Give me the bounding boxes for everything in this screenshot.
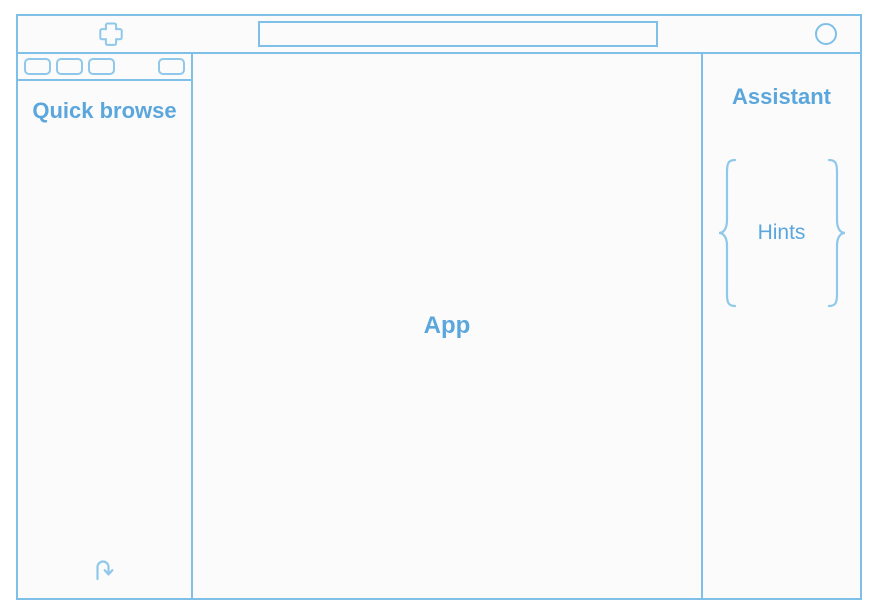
top-bar [18, 16, 860, 54]
sidebar-footer [18, 554, 191, 598]
main-body: Quick browse App Assistant [18, 54, 860, 598]
app-canvas[interactable]: App [193, 54, 703, 598]
tab-chip-1[interactable] [24, 58, 51, 75]
left-curly-brace-icon [717, 158, 739, 308]
assistant-panel: Assistant Hints [703, 54, 860, 598]
tab-chip-4[interactable] [158, 58, 185, 75]
search-input[interactable] [258, 21, 658, 47]
u-turn-arrow-icon[interactable] [90, 554, 120, 584]
assistant-title: Assistant [732, 84, 831, 110]
quick-browse-sidebar: Quick browse [18, 54, 193, 598]
tab-chip-3[interactable] [88, 58, 115, 75]
sidebar-title: Quick browse [18, 97, 191, 125]
plus-icon[interactable] [98, 21, 124, 47]
right-curly-brace-icon [825, 158, 847, 308]
app-label: App [424, 312, 471, 340]
circle-avatar-icon[interactable] [814, 22, 838, 46]
hints-block: Hints [717, 158, 847, 308]
sidebar-tab-bar [18, 54, 191, 81]
sidebar-tab-group [24, 58, 115, 75]
hints-label: Hints [758, 221, 806, 245]
sidebar-content-area [18, 125, 191, 555]
wireframe-window: Quick browse App Assistant [16, 14, 862, 600]
tab-chip-2[interactable] [56, 58, 83, 75]
